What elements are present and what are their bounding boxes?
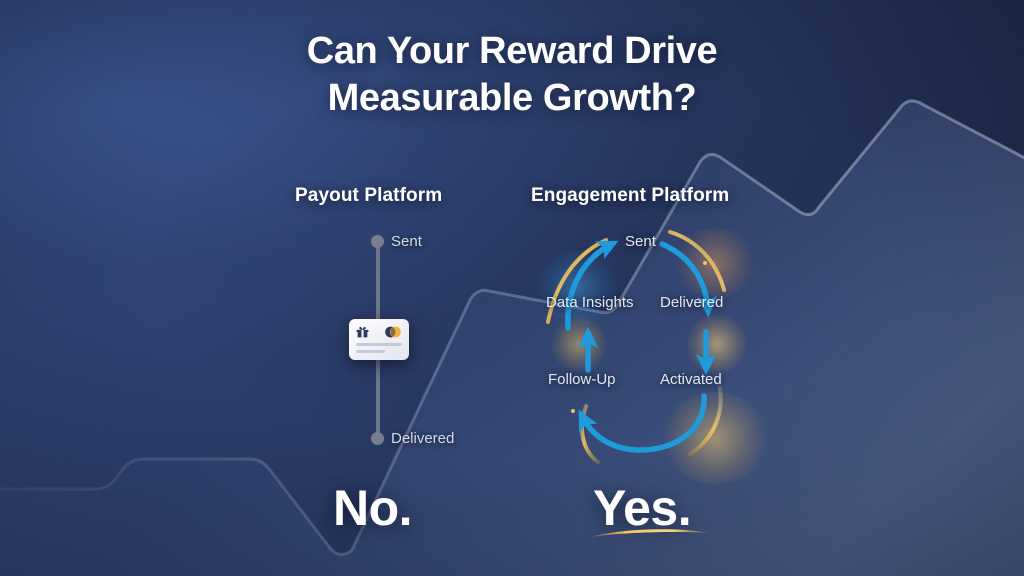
- payout-node-sent-dot: [371, 235, 384, 248]
- cycle-node-activated: Activated: [660, 371, 722, 388]
- verdict-no: No.: [333, 479, 412, 537]
- cycle-node-data-insights: Data Insights: [546, 294, 634, 311]
- cycle-node-delivered: Delivered: [660, 294, 723, 311]
- card-stripe-short: [356, 350, 385, 353]
- page-title: Can Your Reward Drive Measurable Growth?: [0, 28, 1024, 122]
- gift-icon: [356, 325, 369, 337]
- payout-node-delivered-label: Delivered: [391, 430, 454, 447]
- mastercard-icon: [384, 325, 402, 337]
- cycle-node-sent: Sent: [625, 233, 656, 250]
- speck-blue-small: [700, 278, 703, 281]
- cycle-node-follow-up: Follow-Up: [548, 371, 616, 388]
- card-stripe-long: [356, 343, 402, 346]
- title-line-2: Measurable Growth?: [0, 75, 1024, 122]
- payout-node-sent-label: Sent: [391, 233, 422, 250]
- engagement-platform-heading: Engagement Platform: [531, 185, 729, 207]
- slide-canvas: Can Your Reward Drive Measurable Growth?…: [0, 0, 1024, 576]
- payout-node-delivered-dot: [371, 432, 384, 445]
- verdict-yes-underline: [588, 525, 712, 541]
- payout-platform-heading: Payout Platform: [295, 185, 442, 207]
- reward-card: [349, 319, 409, 360]
- speck-gold-lower: [571, 409, 575, 413]
- title-line-1: Can Your Reward Drive: [0, 28, 1024, 75]
- speck-gold-upper: [703, 261, 707, 265]
